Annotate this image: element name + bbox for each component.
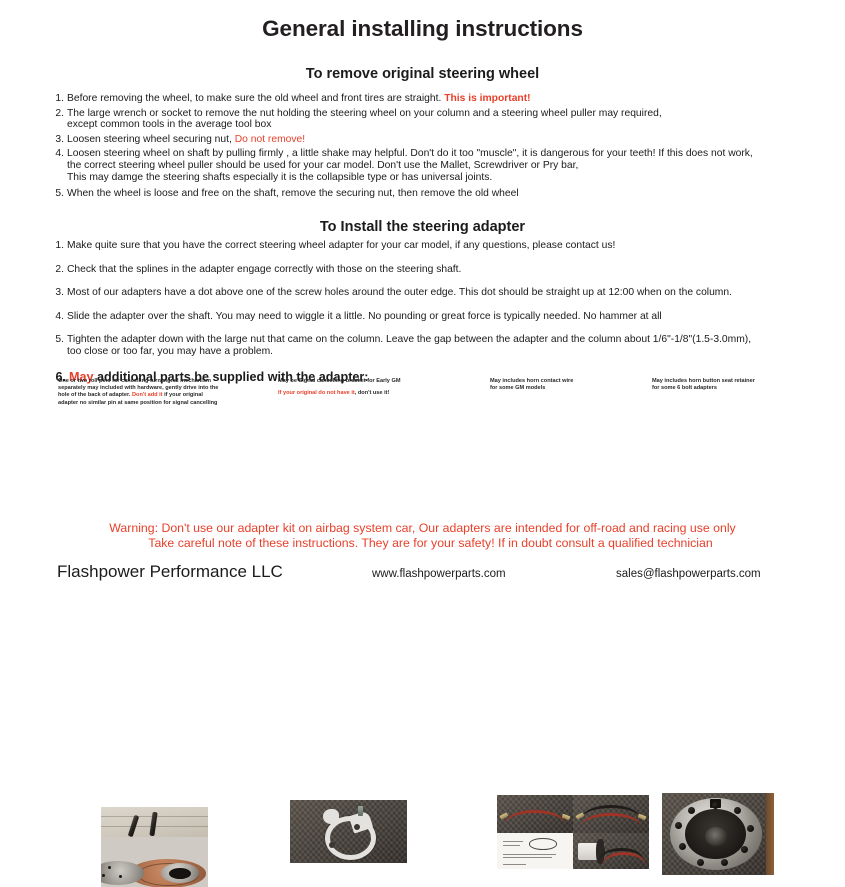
part-caption-horn-retainer: May includes horn button seat retainerfo… [652, 378, 842, 392]
install-adapter-steps: 1.Make quite sure that you have the corr… [50, 240, 830, 384]
plain-text: May be Signal cancelling bracket for Ear… [278, 378, 400, 384]
photo-horn-contact-wire [497, 795, 649, 869]
plain-text: Most of our adapters have a dot above on… [67, 287, 732, 298]
plain-text: adapter no similar pin at same position … [58, 400, 217, 406]
photo-roll-pins [101, 807, 208, 887]
horn-button-seat-retainer-part [670, 798, 762, 870]
text-line: Loosen steering wheel on shaft by pullin… [67, 148, 830, 160]
plain-text: separately may included with hardware, g… [58, 385, 218, 391]
list-item-number: 4. [50, 311, 67, 323]
plain-text: May includes horn button seat retainer [652, 378, 755, 384]
text-line: Make quite sure that you have the correc… [67, 240, 830, 252]
list-item-text: Loosen steering wheel on shaft by pullin… [67, 148, 830, 183]
text-line: Tighten the adapter down with the large … [67, 334, 830, 346]
part-block-horn-retainer: May includes horn button seat retainerfo… [652, 378, 842, 392]
plain-text: the correct steering wheel puller should… [67, 160, 578, 171]
list-item: 2.The large wrench or socket to remove t… [50, 108, 830, 131]
text-line: hole of the back of adapter. Don't add i… [58, 392, 273, 399]
text-line: May be Signal cancelling bracket for Ear… [278, 378, 478, 385]
photo-roll-pins-mat [101, 837, 208, 887]
section-heading-remove-wheel: To remove original steering wheel [0, 66, 845, 82]
photo-signal-cancelling-bracket [290, 800, 407, 863]
list-item-number: 1. [50, 240, 67, 252]
plain-text: Before removing the wheel, to make sure … [67, 93, 444, 104]
list-item-number: 2. [50, 264, 67, 276]
list-item-number: 1. [50, 93, 67, 105]
text-line: May includes horn button seat retainer [652, 378, 842, 385]
signal-cancelling-bracket-part [325, 810, 372, 855]
text-line: When the wheel is loose and free on the … [67, 188, 830, 200]
emphasis-text: Don't add it [132, 392, 163, 398]
plain-text: except common tools in the average tool … [67, 119, 271, 130]
list-item-text: Slide the adapter over the shaft. You ma… [67, 311, 830, 323]
list-item-number: 2. [50, 108, 67, 120]
part-caption-roll-pins: One or two roll pins for cancelling turn… [58, 378, 273, 407]
text-line: separately may included with hardware, g… [58, 385, 273, 392]
photo-wire-instruction-card [497, 833, 573, 869]
list-item-number: 3. [50, 134, 67, 146]
text-line: adapter no similar pin at same position … [58, 400, 273, 407]
list-item-text: Tighten the adapter down with the large … [67, 334, 830, 357]
plain-text: One or two roll pins for cancelling turn… [58, 378, 211, 384]
list-item-text: The large wrench or socket to remove the… [67, 108, 830, 131]
text-line: except common tools in the average tool … [67, 119, 830, 131]
list-item-text: Most of our adapters have a dot above on… [67, 287, 830, 299]
text-line: If your original do not have it, don't u… [278, 390, 478, 397]
adapter-hub [161, 863, 200, 883]
photo-retainer-wood-edge [766, 793, 774, 875]
part-caption-horn-wire: May includes horn contact wirefor some G… [490, 378, 670, 392]
emphasis-text: If your original do not have it [278, 390, 355, 396]
list-item: 1.Before removing the wheel, to make sur… [50, 93, 830, 105]
list-item: 4.Slide the adapter over the shaft. You … [50, 311, 830, 323]
photo-wire-bottom-right [573, 833, 649, 869]
plain-text: Loosen steering wheel on shaft by pullin… [67, 148, 753, 159]
warning-line-2: Take careful note of these instructions.… [0, 536, 845, 551]
part-block-horn-wire: May includes horn contact wirefor some G… [490, 378, 670, 392]
list-item: 5.Tighten the adapter down with the larg… [50, 334, 830, 357]
plain-text: Loosen steering wheel securing nut, [67, 134, 235, 145]
text-line: May includes horn contact wire [490, 378, 670, 385]
text-line: Most of our adapters have a dot above on… [67, 287, 830, 299]
plain-text: if your original [163, 392, 203, 398]
list-item: 5.When the wheel is loose and free on th… [50, 188, 830, 200]
text-line: This may damge the steering shafts espec… [67, 172, 830, 184]
list-item-text: Check that the splines in the adapter en… [67, 264, 830, 276]
part-block-signal-bracket: May be Signal cancelling bracket for Ear… [278, 378, 478, 397]
company-name: Flashpower Performance LLC [57, 562, 283, 582]
text-line: the correct steering wheel puller should… [67, 160, 830, 172]
bracket-screw [358, 806, 363, 816]
photo-wire-top-left [497, 795, 573, 833]
plain-text: , don't use it! [355, 390, 390, 396]
plain-text: May includes horn contact wire [490, 378, 573, 384]
plain-text: Slide the adapter over the shaft. You ma… [67, 311, 662, 322]
page-title: General installing instructions [0, 16, 845, 42]
list-item-number: 5. [50, 188, 67, 200]
plain-text: Check that the splines in the adapter en… [67, 264, 461, 275]
photo-wire-top-right [573, 795, 649, 833]
safety-warning: Warning: Don't use our adapter kit on ai… [0, 521, 845, 551]
plain-text: This may damge the steering shafts espec… [67, 172, 492, 183]
footer: Flashpower Performance LLC www.flashpowe… [0, 562, 845, 595]
plain-text: hole of the back of adapter. [58, 392, 132, 398]
company-email[interactable]: sales@flashpowerparts.com [616, 568, 761, 580]
text-line: too close or too far, you may have a pro… [67, 346, 830, 358]
text-line: One or two roll pins for cancelling turn… [58, 378, 273, 385]
list-item-number: 4. [50, 148, 67, 160]
text-line: Check that the splines in the adapter en… [67, 264, 830, 276]
text-line: Before removing the wheel, to make sure … [67, 93, 830, 105]
list-item: 3.Most of our adapters have a dot above … [50, 287, 830, 299]
list-item: 2.Check that the splines in the adapter … [50, 264, 830, 276]
plain-text: for some GM models [490, 385, 545, 391]
text-line: for some 6 bolt adapters [652, 385, 842, 392]
instruction-sheet: General installing instructions To remov… [0, 0, 845, 595]
text-line: for some GM models [490, 385, 670, 392]
photo-horn-button-seat-retainer [662, 793, 774, 875]
warning-line-1: Warning: Don't use our adapter kit on ai… [0, 521, 845, 536]
section-heading-install-adapter: To Install the steering adapter [0, 219, 845, 235]
plain-text: Tighten the adapter down with the large … [67, 334, 751, 345]
company-website[interactable]: www.flashpowerparts.com [372, 568, 506, 580]
plain-text: too close or too far, you may have a pro… [67, 346, 273, 357]
list-item: 1.Make quite sure that you have the corr… [50, 240, 830, 252]
remove-wheel-steps: 1.Before removing the wheel, to make sur… [50, 93, 830, 203]
list-item-number: 3. [50, 287, 67, 299]
emphasis-text: Do not remove! [235, 134, 305, 145]
part-caption-signal-bracket: May be Signal cancelling bracket for Ear… [278, 378, 478, 397]
plain-text: The large wrench or socket to remove the… [67, 108, 662, 119]
text-line: Loosen steering wheel securing nut, Do n… [67, 134, 830, 146]
list-item-text: Before removing the wheel, to make sure … [67, 93, 830, 105]
optional-parts-row: One or two roll pins for cancelling turn… [0, 378, 845, 513]
list-item-text: Loosen steering wheel securing nut, Do n… [67, 134, 830, 146]
list-item: 4.Loosen steering wheel on shaft by pull… [50, 148, 830, 183]
list-item-text: When the wheel is loose and free on the … [67, 188, 830, 200]
list-item: 3.Loosen steering wheel securing nut, Do… [50, 134, 830, 146]
emphasis-text: This is important! [444, 93, 530, 104]
part-block-roll-pins: One or two roll pins for cancelling turn… [58, 378, 273, 407]
plain-text: Make quite sure that you have the correc… [67, 240, 615, 251]
plain-text: When the wheel is loose and free on the … [67, 188, 519, 199]
plain-text: for some 6 bolt adapters [652, 385, 717, 391]
text-line: Slide the adapter over the shaft. You ma… [67, 311, 830, 323]
text-line: The large wrench or socket to remove the… [67, 108, 830, 120]
list-item-text: Make quite sure that you have the correc… [67, 240, 830, 252]
list-item-number: 5. [50, 334, 67, 346]
